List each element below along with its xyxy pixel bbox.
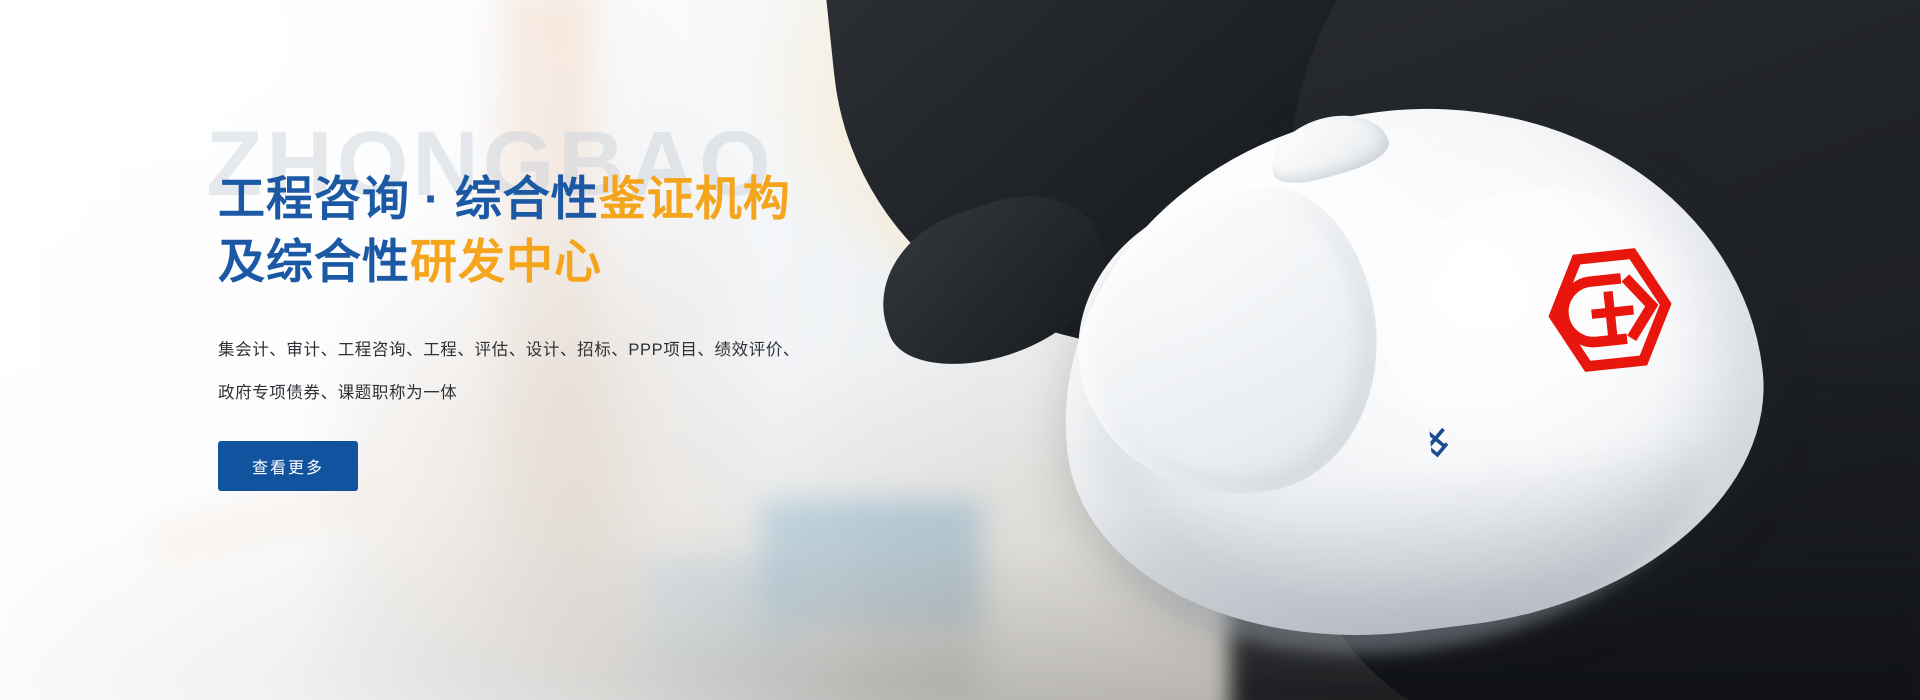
headline-line-1: 工程咨询 · 综合性鉴证机构 xyxy=(218,168,978,231)
headline-line-2-orange: 研发中心 xyxy=(410,235,602,288)
headline-line-1-orange: 鉴证机构 xyxy=(599,172,791,225)
headline-line-1-blue: 工程咨询 · 综合性 xyxy=(218,172,599,225)
description-line-1: 集会计、审计、工程咨询、工程、评估、设计、招标、PPP项目、绩效评价、 xyxy=(218,329,978,372)
view-more-button[interactable]: 查看更多 xyxy=(218,441,358,491)
headline-line-2: 及综合性研发中心 xyxy=(218,231,978,294)
hero-headline: 工程咨询 · 综合性鉴证机构 及综合性研发中心 xyxy=(218,168,978,293)
headline-line-2-blue: 及综合性 xyxy=(218,235,410,288)
hero-description: 集会计、审计、工程咨询、工程、评估、设计、招标、PPP项目、绩效评价、 政府专项… xyxy=(218,329,978,415)
hexagon-emblem-icon xyxy=(1533,233,1687,387)
hero-content: 工程咨询 · 综合性鉴证机构 及综合性研发中心 集会计、审计、工程咨询、工程、评… xyxy=(218,118,978,491)
description-line-2: 政府专项债券、课题职称为一体 xyxy=(218,372,978,415)
hero-banner: 中宝工程管理 ZHONGBAO 工程咨询 · 综合性鉴证机构 及综合性研发中心 … xyxy=(0,0,1920,700)
